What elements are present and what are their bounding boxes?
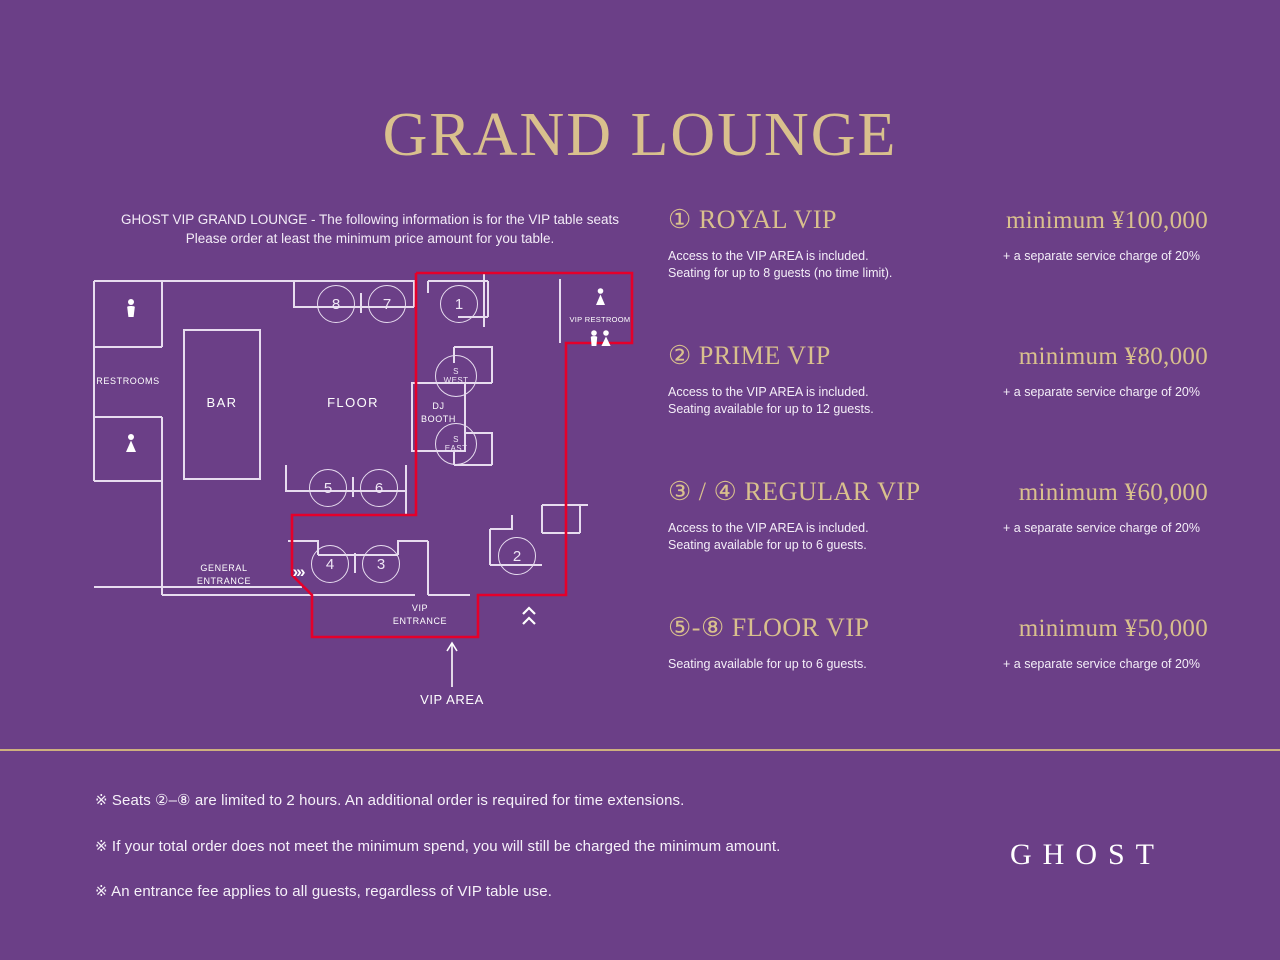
tier-prime-vip-body: Access to the VIP AREA is included. Seat… [668, 384, 1208, 418]
table-3[interactable]: 3 [362, 545, 400, 583]
gold-divider [0, 749, 1280, 751]
tier-regular-vip-description: Access to the VIP AREA is included. Seat… [668, 520, 869, 554]
tier-royal-vip-body: Access to the VIP AREA is included. Seat… [668, 248, 1208, 282]
vip-area-arrow [447, 643, 457, 687]
tier-floor-vip-price: minimum ¥50,000 [1019, 615, 1208, 643]
tier-prime-vip-head: ② PRIME VIP minimum ¥80,000 [668, 341, 1208, 371]
tier-regular-vip: ③ / ④ REGULAR VIP minimum ¥60,000 Access… [668, 477, 1208, 554]
tier-floor-vip-service-charge: + a separate service charge of 20% [1003, 656, 1208, 673]
table-divider-56 [352, 477, 354, 497]
table-2[interactable]: 2 [498, 537, 536, 575]
floor-plan: RESTROOMS BAR FLOOR DJ BOOTH VIP RESTROO… [80, 265, 660, 735]
tier-prime-vip-price: minimum ¥80,000 [1019, 343, 1208, 371]
tier-floor-vip-body: Seating available for up to 6 guests. + … [668, 656, 1208, 673]
tier-royal-vip-badge: ① [668, 205, 692, 234]
stage-east[interactable]: S EAST [435, 423, 477, 465]
intro-line-1: GHOST VIP GRAND LOUNGE - The following i… [90, 210, 650, 229]
stage-west-line2: WEST [444, 376, 469, 385]
tier-royal-vip-service-charge: + a separate service charge of 20% [1003, 248, 1208, 282]
table-divider-87 [360, 293, 362, 313]
ghost-logo: GHOST [1010, 838, 1165, 872]
tier-floor-vip-name: ⑤-⑧ FLOOR VIP [668, 613, 869, 643]
tier-regular-vip-badge: ③ / ④ [668, 477, 737, 506]
stage-west[interactable]: S WEST [435, 355, 477, 397]
vip-restroom-pair-icon [588, 329, 614, 349]
tier-floor-vip-title: FLOOR VIP [732, 613, 870, 642]
intro-line-2: Please order at least the minimum price … [90, 229, 650, 248]
tier-floor-vip: ⑤-⑧ FLOOR VIP minimum ¥50,000 Seating av… [668, 613, 1208, 673]
tier-royal-vip-title: ROYAL VIP [699, 205, 837, 234]
tier-prime-vip-description: Access to the VIP AREA is included. Seat… [668, 384, 874, 418]
tier-floor-vip-head: ⑤-⑧ FLOOR VIP minimum ¥50,000 [668, 613, 1208, 643]
tier-floor-vip-description: Seating available for up to 6 guests. [668, 656, 867, 673]
tier-royal-vip-head: ① ROYAL VIP minimum ¥100,000 [668, 205, 1208, 235]
table-8[interactable]: 8 [317, 285, 355, 323]
tier-royal-vip-description: Access to the VIP AREA is included. Seat… [668, 248, 892, 282]
tier-prime-vip: ② PRIME VIP minimum ¥80,000 Access to th… [668, 341, 1208, 418]
stage-west-line1: S [453, 367, 459, 376]
tier-royal-vip-price: minimum ¥100,000 [1006, 207, 1208, 235]
vip-restroom-single-icon [594, 287, 607, 307]
grand-lounge-poster: GRAND LOUNGE GHOST VIP GRAND LOUNGE - Th… [0, 0, 1280, 960]
table-6[interactable]: 6 [360, 469, 398, 507]
footer-note-3: ※ An entrance fee applies to all guests,… [95, 882, 552, 900]
tier-regular-vip-head: ③ / ④ REGULAR VIP minimum ¥60,000 [668, 477, 1208, 507]
table-4[interactable]: 4 [311, 545, 349, 583]
vip-entrance-chevrons-icon [520, 605, 538, 629]
page-title: GRAND LOUNGE [0, 100, 1280, 171]
table-divider-43 [354, 553, 356, 573]
tier-prime-vip-title: PRIME VIP [699, 341, 831, 370]
tier-royal-vip: ① ROYAL VIP minimum ¥100,000 Access to t… [668, 205, 1208, 282]
tier-regular-vip-title: REGULAR VIP [744, 477, 920, 506]
tier-prime-vip-service-charge: + a separate service charge of 20% [1003, 384, 1208, 418]
tier-regular-vip-price: minimum ¥60,000 [1019, 479, 1208, 507]
intro-text: GHOST VIP GRAND LOUNGE - The following i… [90, 210, 650, 248]
tier-prime-vip-badge: ② [668, 341, 692, 370]
tier-regular-vip-body: Access to the VIP AREA is included. Seat… [668, 520, 1208, 554]
table-5[interactable]: 5 [309, 469, 347, 507]
table-1[interactable]: 1 [440, 285, 478, 323]
tier-prime-vip-name: ② PRIME VIP [668, 341, 831, 371]
tier-royal-vip-name: ① ROYAL VIP [668, 205, 837, 235]
stage-east-line2: EAST [445, 444, 468, 453]
tier-floor-vip-badge: ⑤-⑧ [668, 613, 725, 642]
tier-regular-vip-service-charge: + a separate service charge of 20% [1003, 520, 1208, 554]
footer-note-1: ※ Seats ②–⑧ are limited to 2 hours. An a… [95, 791, 684, 809]
stage-east-line1: S [453, 435, 459, 444]
table-7[interactable]: 7 [368, 285, 406, 323]
restroom-female-icon [124, 433, 138, 455]
footer-note-2: ※ If your total order does not meet the … [95, 837, 780, 855]
restroom-male-icon [124, 298, 138, 320]
tier-regular-vip-name: ③ / ④ REGULAR VIP [668, 477, 921, 507]
